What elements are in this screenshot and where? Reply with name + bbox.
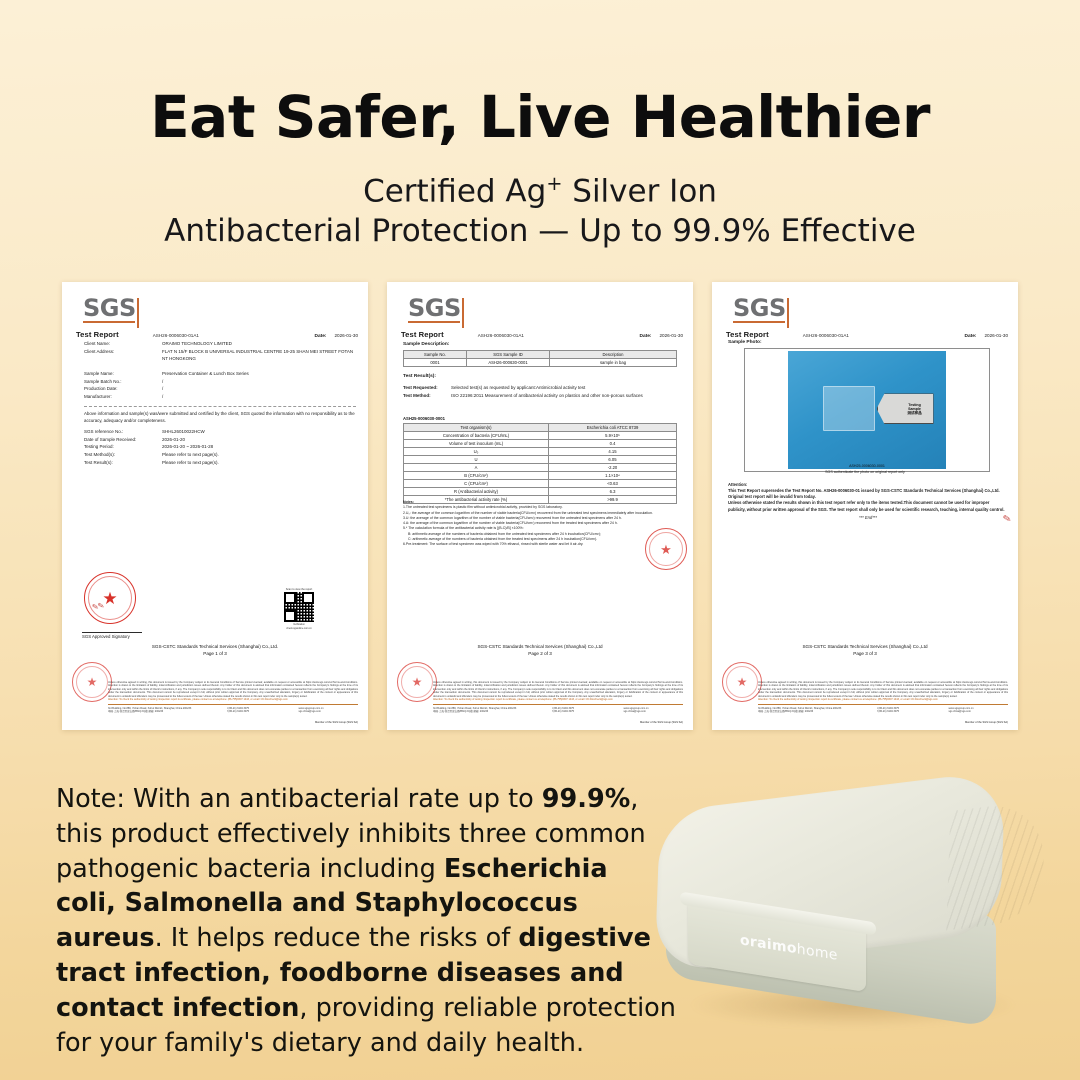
result-table-id: ASH25-0006030-0001: [403, 416, 445, 421]
seal-inner-ring: [649, 532, 683, 566]
table-cell: A: [404, 464, 549, 472]
legal-divider: [758, 704, 1008, 705]
legal-body: Unless otherwise agreed in writing, this…: [108, 681, 358, 699]
field-key: Test Result(s):: [84, 459, 162, 467]
table-cell: 0.4: [549, 440, 677, 448]
sgs-tick-mark: [462, 298, 464, 328]
field-value: /: [162, 385, 356, 393]
table-cell: 6.3: [549, 488, 677, 496]
footer-company: SGS-CSTC Standards Technical Services (S…: [62, 644, 368, 649]
sgs-red-seal-stamp: ★: [645, 528, 687, 570]
table-cell: <0.63: [549, 480, 677, 488]
table-cell: B (CFU/cm²): [404, 472, 549, 480]
field-value: Preservation Container & Lunch Box Serie…: [162, 370, 356, 378]
subtitle-ag-text: Certified Ag: [363, 173, 546, 209]
footer-company: SGS-CSTC Standards Technical Services (S…: [712, 644, 1018, 649]
legal-mail: sgs.china@sgs.com: [949, 710, 1009, 714]
report-header-row: Test Report ASH26-0006030-01A1 Date: 202…: [76, 330, 358, 339]
field-key: Test Method(s):: [84, 451, 162, 459]
legal-body: Unless otherwise agreed in writing, this…: [758, 681, 1008, 699]
page-title: Eat Safer, Live Healthier: [0, 88, 1080, 146]
sgs-red-seal-stamp-footer: ★: [722, 662, 762, 702]
sgs-group-member-note: Member of the SGS Group (SGS SA): [640, 721, 683, 724]
header: Eat Safer, Live Healthier Certified Ag+ …: [0, 88, 1080, 252]
field-row: Sample Name: Preservation Container & Lu…: [84, 370, 356, 378]
field-value: 2026-01-20: [162, 436, 356, 444]
column-header: Escherichia coli ATCC 8739: [549, 424, 677, 432]
photo-authenticity-note: SGS authenticate the photo on original r…: [712, 470, 1018, 474]
field-value: FLAT N 15/F BLOCK B UNIVERSAL INDUSTRIAL…: [162, 348, 356, 363]
field-key: Date of Sample Received:: [84, 436, 162, 444]
table-header-row: Test organism(s) Escherichia coli ATCC 8…: [404, 424, 677, 432]
divider: [84, 406, 356, 407]
signature-mark: ✎: [1002, 513, 1012, 525]
field-key: Sample Name:: [84, 370, 162, 378]
legal-mail: sgs.china@sgs.com: [299, 710, 359, 714]
sgs-red-seal-stamp-footer: ★: [72, 662, 112, 702]
table-cell: sample in bag: [550, 359, 677, 367]
table-row: R (Antibacterial activity)6.3: [404, 488, 677, 496]
certificate-page-2[interactable]: SGS Test Report ASH26-0006030-01A1 Date:…: [387, 282, 693, 730]
qr-finder-bottom-left: [284, 610, 296, 622]
legal-disclaimer-block: Unless otherwise agreed in writing, this…: [433, 681, 683, 714]
photo-test-specimen: [823, 386, 876, 430]
test-results-label: Test Result(s):: [403, 374, 436, 379]
seal-inner-ring: [88, 576, 132, 620]
table-cell: ASH26-000630-0001: [467, 359, 550, 367]
column-header: Test organism(s): [404, 424, 549, 432]
field-key: Testing Period:: [84, 443, 162, 451]
field-key: Client Address:: [84, 348, 162, 363]
sample-description-title: Sample Description:: [403, 342, 449, 347]
column-header: Sample No.: [404, 351, 467, 359]
field-value: 2026-01-20 ~ 2026-01-28: [162, 443, 356, 451]
legal-address-cn: 中国·上海·徐汇区宜山路889号3号楼 邮编: 200233: [108, 710, 221, 714]
photo-tag-line-3: 测试样品: [907, 411, 921, 415]
attention-line: Unless otherwise stated the results show…: [728, 500, 1008, 512]
table-cell: U₀: [404, 448, 549, 456]
notes-block: Notes: 1.The untreated test specimens is…: [403, 500, 683, 547]
field-row: Test Method(s): Please refer to next pag…: [84, 451, 356, 459]
table-cell: U: [404, 456, 549, 464]
field-key: Manufacturer:: [84, 393, 162, 401]
report-title: Test Report: [401, 330, 444, 339]
legal-divider: [108, 704, 358, 705]
legal-address-cn: 中国·上海·徐汇区宜山路889号3号楼 邮编: 200233: [758, 710, 871, 714]
report-date-label: Date:: [315, 334, 327, 339]
field-row: Test Method: ISO 22196:2011 Measurement …: [403, 392, 681, 400]
field-value: /: [162, 378, 356, 386]
table-cell: Volume of test inoculum (mL): [404, 440, 549, 448]
report-number: ASH26-0006030-01A1: [478, 333, 524, 338]
legal-divider: [433, 704, 683, 705]
subtitle-silver-ion: Silver Ion: [562, 173, 717, 209]
page-subtitle: Certified Ag+ Silver Ion Antibacterial P…: [0, 172, 1080, 252]
sample-fields: Sample Name: Preservation Container & Lu…: [84, 370, 356, 401]
table-cell: 4.15: [549, 448, 677, 456]
legal-disclaimer-block: Unless otherwise agreed in writing, this…: [108, 681, 358, 714]
table-row: 0001 ASH26-000630-0001 sample in bag: [404, 359, 677, 367]
footer-page-number: Page 3 of 3: [712, 651, 1018, 656]
sgs-red-seal-stamp: ★: [84, 572, 136, 624]
table-row: Volume of test inoculum (mL)0.4: [404, 440, 677, 448]
table-cell: 1.1×10⁴: [549, 472, 677, 480]
report-title: Test Report: [726, 330, 769, 339]
field-row: Date of Sample Received: 2026-01-20: [84, 436, 356, 444]
report-number: ASH26-0006030-01A1: [153, 333, 199, 338]
footer-page-number: Page 1 of 3: [62, 651, 368, 656]
table-header-row: Sample No. SGS Sample ID Description: [404, 351, 677, 359]
sample-description-table: Sample No. SGS Sample ID Description 000…: [403, 350, 677, 367]
table-cell: Concentration of bacteria (CFU/mL): [404, 432, 549, 440]
field-row: Testing Period: 2026-01-20 ~ 2026-01-28: [84, 443, 356, 451]
sgs-wordmark: SGS: [733, 296, 786, 320]
report-header-row: Test Report ASH26-0006030-01A1 Date: 202…: [401, 330, 683, 339]
field-row: Client Address: FLAT N 15/F BLOCK B UNIV…: [84, 348, 356, 363]
field-key: Client Name:: [84, 340, 162, 348]
footer-page-number: Page 2 of 3: [387, 651, 693, 656]
note-paragraph: Note: With an antibacterial rate up to 9…: [56, 782, 676, 1060]
certificate-strip: SGS Test Report ASH26-0006030-01A1 Date:…: [62, 282, 1018, 730]
sgs-logo: SGS: [83, 296, 136, 323]
photo-arrow-label: Testing Sample 测试样品: [877, 393, 934, 424]
table-cell: 6.05: [549, 456, 677, 464]
table-row: U₀4.15: [404, 448, 677, 456]
field-row: Sample Batch No.: /: [84, 378, 356, 386]
note-line: 6.Pre-treatment: The surface of test spe…: [403, 542, 683, 547]
note-prefix: Note: With an antibacterial rate up to: [56, 784, 542, 814]
table-cell: 0001: [404, 359, 467, 367]
sgs-tick-mark: [787, 298, 789, 328]
attention-block: Attention: This Test Report supersedes t…: [728, 482, 1008, 521]
legal-tel-2: f (86-21) 6194 3075: [227, 710, 292, 714]
signatory-caption: SGS Approved Signatory: [82, 634, 130, 639]
signature-line: [82, 632, 142, 633]
table-row: B (CFU/cm²)1.1×10⁴: [404, 472, 677, 480]
product-image: oraimohome: [648, 772, 1068, 1072]
sample-photo-label: Sample Photo:: [728, 340, 762, 345]
table-row: Concentration of bacteria (CFU/mL)5.9×10…: [404, 432, 677, 440]
sgs-wordmark: SGS: [83, 296, 136, 320]
field-key: SGS reference No.:: [84, 428, 162, 436]
sgs-wordmark: SGS: [408, 296, 461, 320]
table-cell: 5.9×10⁵: [549, 432, 677, 440]
attention-line: This Test Report supersedes the Test Rep…: [728, 488, 1008, 500]
table-row: C (CFU/cm²)<0.63: [404, 480, 677, 488]
legal-address-row-cn: 中国·上海·徐汇区宜山路889号3号楼 邮编: 200233 f (86-21)…: [758, 710, 1008, 714]
client-disclaimer: Above information and sample(s) was/were…: [84, 410, 356, 424]
column-header: Description: [550, 351, 677, 359]
report-date-value: 2026-01-30: [335, 333, 359, 338]
field-value: Please refer to next page(s).: [162, 459, 356, 467]
field-row: Client Name: ORAIMO TECHNOLOGY LIMITED: [84, 340, 356, 348]
seal-inner-ring: [401, 666, 433, 698]
antibacterial-result-table: Test organism(s) Escherichia coli ATCC 8…: [403, 423, 677, 504]
legal-mail: sgs.china@sgs.com: [624, 710, 684, 714]
qr-caption-bottom-2: check.sgsonline.com.cn: [284, 627, 314, 630]
qr-caption-bottom-1: Verification: [284, 623, 314, 626]
legal-address-cn: 中国·上海·徐汇区宜山路889号3号楼 邮编: 200233: [433, 710, 546, 714]
note-rate: 99.9%: [542, 784, 630, 814]
legal-body: Unless otherwise agreed in writing, this…: [433, 681, 683, 699]
note-line: 2.U₀: the average of the common logarith…: [403, 511, 683, 516]
subtitle-line-2: Antibacterial Protection — Up to 99.9% E…: [0, 212, 1080, 252]
table-cell: -2.20: [549, 464, 677, 472]
field-row: Manufacturer: /: [84, 393, 356, 401]
legal-attention: Attention: To check the authenticity of …: [758, 698, 1008, 702]
test-request-fields: Test Requested: Selected test(s) as requ…: [403, 384, 681, 399]
report-date-label: Date:: [965, 334, 977, 339]
report-date-value: 2026-01-30: [660, 333, 684, 338]
lunchbox-lid-ribs: [946, 799, 1045, 930]
legal-attention: Attention: To check the authenticity of …: [108, 698, 358, 702]
sgs-tick-mark: [137, 298, 139, 328]
photo-blue-background: Testing Sample 测试样品: [788, 351, 946, 469]
report-number: ASH26-0006030-01A1: [803, 333, 849, 338]
attention-end-mark: *** End***: [728, 515, 1008, 521]
field-value: /: [162, 393, 356, 401]
sgs-logo: SGS: [733, 296, 786, 323]
report-title: Test Report: [76, 330, 119, 339]
legal-disclaimer-block: Unless otherwise agreed in writing, this…: [758, 681, 1008, 714]
certificate-page-3[interactable]: SGS Test Report ASH26-0006030-01A1 Date:…: [712, 282, 1018, 730]
seal-inner-ring: [76, 666, 108, 698]
report-header-row: Test Report ASH26-0006030-01A1 Date: 202…: [726, 330, 1008, 339]
field-key: Test Method:: [403, 392, 451, 400]
superscript-plus: +: [546, 172, 562, 195]
legal-tel-2: f (86-21) 6194 3075: [877, 710, 942, 714]
client-fields: Client Name: ORAIMO TECHNOLOGY LIMITED C…: [84, 340, 356, 363]
field-key: Production Date:: [84, 385, 162, 393]
sgs-red-seal-stamp-footer: ★: [397, 662, 437, 702]
sample-photo: Testing Sample 测试样品 ASH25-0006030-0001: [747, 351, 987, 469]
table-cell: R (Antibacterial activity): [404, 488, 549, 496]
field-value: Selected test(s) as requested by applica…: [451, 384, 681, 392]
column-header: SGS Sample ID: [467, 351, 550, 359]
field-value: SHHL26010022HCW: [162, 428, 356, 436]
table-row: U6.05: [404, 456, 677, 464]
qr-caption-top: Scan to view the report: [284, 588, 314, 591]
legal-address-row-cn: 中国·上海·徐汇区宜山路889号3号楼 邮编: 200233 f (86-21)…: [108, 710, 358, 714]
legal-tel-2: f (86-21) 6194 3075: [552, 710, 617, 714]
report-date-value: 2026-01-30: [985, 333, 1009, 338]
note-mid-2: . It helps reduce the risks of: [155, 923, 519, 953]
certificate-page-1[interactable]: SGS Test Report ASH26-0006030-01A1 Date:…: [62, 282, 368, 730]
field-value: ISO 22196:2011 Measurement of antibacter…: [451, 392, 681, 400]
sample-photo-frame: Testing Sample 测试样品 ASH25-0006030-0001: [744, 348, 990, 472]
reference-fields: SGS reference No.: SHHL26010022HCW Date …: [84, 428, 356, 467]
table-row: A-2.20: [404, 464, 677, 472]
field-row: SGS reference No.: SHHL26010022HCW: [84, 428, 356, 436]
field-key: Test Requested:: [403, 384, 451, 392]
seal-inner-ring: [726, 666, 758, 698]
table-cell: C (CFU/cm²): [404, 480, 549, 488]
footer-company: SGS-CSTC Standards Technical Services (S…: [387, 644, 693, 649]
qr-code-icon[interactable]: [284, 592, 314, 622]
sgs-group-member-note: Member of the SGS Group (SGS SA): [965, 721, 1008, 724]
report-date-label: Date:: [640, 334, 652, 339]
field-row: Test Requested: Selected test(s) as requ…: [403, 384, 681, 392]
verification-qr-block[interactable]: Scan to view the report Verification che…: [284, 588, 314, 630]
photo-caption-id: ASH25-0006030-0001: [747, 464, 987, 468]
subtitle-line-1: Certified Ag+ Silver Ion: [0, 172, 1080, 212]
legal-attention: Attention: To check the authenticity of …: [433, 698, 683, 702]
field-row: Test Result(s): Please refer to next pag…: [84, 459, 356, 467]
field-key: Sample Batch No.:: [84, 378, 162, 386]
field-value: ORAIMO TECHNOLOGY LIMITED: [162, 340, 356, 348]
sgs-group-member-note: Member of the SGS Group (SGS SA): [315, 721, 358, 724]
field-value: Please refer to next page(s).: [162, 451, 356, 459]
legal-address-row-cn: 中国·上海·徐汇区宜山路889号3号楼 邮编: 200233 f (86-21)…: [433, 710, 683, 714]
field-row: Production Date: /: [84, 385, 356, 393]
sgs-logo: SGS: [408, 296, 461, 323]
